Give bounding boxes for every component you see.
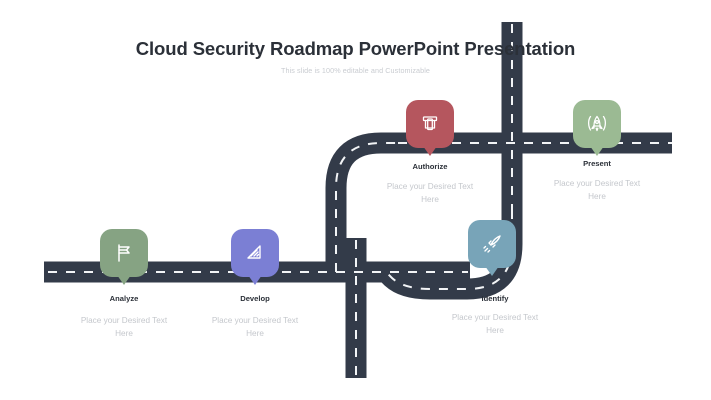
node-body-line2: Here bbox=[355, 194, 505, 207]
node-pin-authorize[interactable] bbox=[406, 100, 454, 148]
node-label-present: Present bbox=[522, 159, 672, 168]
node-body-present: Place your Desired Text Here bbox=[522, 178, 672, 203]
node-body-line2: Here bbox=[522, 191, 672, 204]
node-body-line2: Here bbox=[49, 328, 199, 341]
node-body-line1: Place your Desired Text bbox=[180, 315, 330, 328]
card-slot-icon bbox=[418, 112, 442, 136]
rocket-tilt-icon bbox=[480, 232, 504, 256]
pin-tail bbox=[485, 266, 499, 276]
node-body-authorize: Place your Desired Text Here bbox=[355, 181, 505, 206]
node-label-authorize: Authorize bbox=[355, 162, 505, 171]
pin-tail bbox=[117, 275, 131, 285]
node-pin-analyze[interactable] bbox=[100, 229, 148, 277]
rocket-launch-icon bbox=[584, 111, 610, 137]
node-label-develop: Develop bbox=[180, 294, 330, 303]
node-body-line1: Place your Desired Text bbox=[355, 181, 505, 194]
node-label-analyze: Analyze bbox=[49, 294, 199, 303]
node-body-line1: Place your Desired Text bbox=[522, 178, 672, 191]
node-body-line1: Place your Desired Text bbox=[420, 312, 570, 325]
page-title: Cloud Security Roadmap PowerPoint Presen… bbox=[0, 38, 711, 60]
node-pin-present[interactable] bbox=[573, 100, 621, 148]
node-body-develop: Place your Desired Text Here bbox=[180, 315, 330, 340]
pin-tail bbox=[248, 275, 262, 285]
page-subtitle: This slide is 100% editable and Customiz… bbox=[0, 66, 711, 75]
node-pin-identify[interactable] bbox=[468, 220, 516, 268]
node-body-analyze: Place your Desired Text Here bbox=[49, 315, 199, 340]
node-pin-develop[interactable] bbox=[231, 229, 279, 277]
node-body-identify: Place your Desired Text Here bbox=[420, 312, 570, 337]
node-body-line2: Here bbox=[180, 328, 330, 341]
pin-tail bbox=[423, 146, 437, 156]
slide-canvas: Cloud Security Roadmap PowerPoint Presen… bbox=[0, 0, 711, 400]
signal-flag-icon bbox=[243, 241, 267, 265]
node-body-line2: Here bbox=[420, 325, 570, 338]
flag-icon bbox=[112, 241, 136, 265]
node-body-line1: Place your Desired Text bbox=[49, 315, 199, 328]
node-label-identify: Identify bbox=[420, 294, 570, 303]
pin-tail bbox=[590, 146, 604, 156]
